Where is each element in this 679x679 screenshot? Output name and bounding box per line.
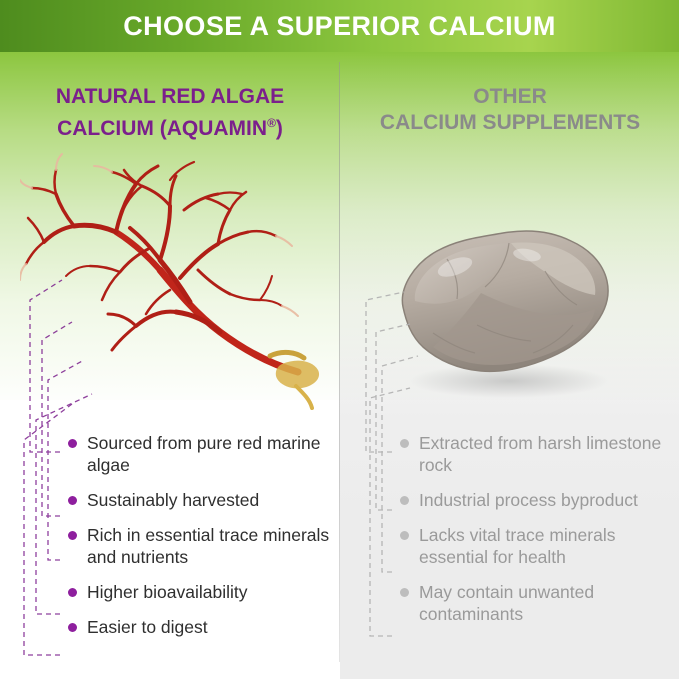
left-benefits-list: Sourced from pure red marine algae Susta…	[68, 432, 340, 651]
left-column-title-line1: Natural Red Algae	[8, 84, 332, 110]
bullet-dot-icon	[400, 588, 409, 597]
header-band: Choose a Superior Calcium	[0, 0, 679, 52]
algae-holdfast	[270, 352, 319, 408]
bullet-dot-icon	[68, 623, 77, 632]
bullet-dot-icon	[68, 588, 77, 597]
limestone-rock-illustration	[385, 215, 625, 405]
list-item-label: Industrial process byproduct	[419, 489, 638, 511]
right-column-title-line1: Other	[345, 84, 675, 110]
left-column-title-line2: Calcium (Aquamin®)	[8, 110, 332, 142]
left-title-text: Calcium (Aquamin	[57, 117, 267, 140]
list-item-label: Rich in essential trace minerals and nut…	[87, 524, 340, 568]
list-item-label: Sourced from pure red marine algae	[87, 432, 340, 476]
bullet-dot-icon	[68, 496, 77, 505]
right-column-title-line2: Calcium Supplements	[345, 110, 675, 136]
list-item: Easier to digest	[68, 616, 340, 638]
list-item: Sourced from pure red marine algae	[68, 432, 340, 476]
left-column-title: Natural Red Algae Calcium (Aquamin®)	[8, 84, 332, 142]
limestone-rock-svg	[385, 215, 625, 405]
page-title: Choose a Superior Calcium	[123, 11, 556, 42]
list-item: Lacks vital trace minerals essential for…	[400, 524, 672, 568]
bullet-dot-icon	[400, 531, 409, 540]
list-item: Sustainably harvested	[68, 489, 340, 511]
right-column-title: Other Calcium Supplements	[345, 84, 675, 136]
list-item: Rich in essential trace minerals and nut…	[68, 524, 340, 568]
list-item-label: Lacks vital trace minerals essential for…	[419, 524, 672, 568]
list-item-label: May contain unwanted contaminants	[419, 581, 672, 625]
list-item-label: Extracted from harsh limestone rock	[419, 432, 672, 476]
red-algae-svg	[20, 150, 320, 415]
list-item-label: Higher bioavailability	[87, 581, 248, 603]
registered-trademark-icon: ®	[267, 116, 276, 130]
list-item: May contain unwanted contaminants	[400, 581, 672, 625]
left-title-paren: )	[276, 117, 283, 140]
bullet-dot-icon	[400, 439, 409, 448]
list-item-label: Sustainably harvested	[87, 489, 259, 511]
bullet-dot-icon	[68, 531, 77, 540]
right-drawbacks-list: Extracted from harsh limestone rock Indu…	[400, 432, 672, 638]
bullet-dot-icon	[400, 496, 409, 505]
comparison-infographic: Choose a Superior Calcium Natural Red Al…	[0, 0, 679, 679]
red-algae-illustration	[20, 150, 320, 415]
bullet-dot-icon	[68, 439, 77, 448]
list-item: Industrial process byproduct	[400, 489, 672, 511]
list-item-label: Easier to digest	[87, 616, 208, 638]
list-item: Extracted from harsh limestone rock	[400, 432, 672, 476]
list-item: Higher bioavailability	[68, 581, 340, 603]
